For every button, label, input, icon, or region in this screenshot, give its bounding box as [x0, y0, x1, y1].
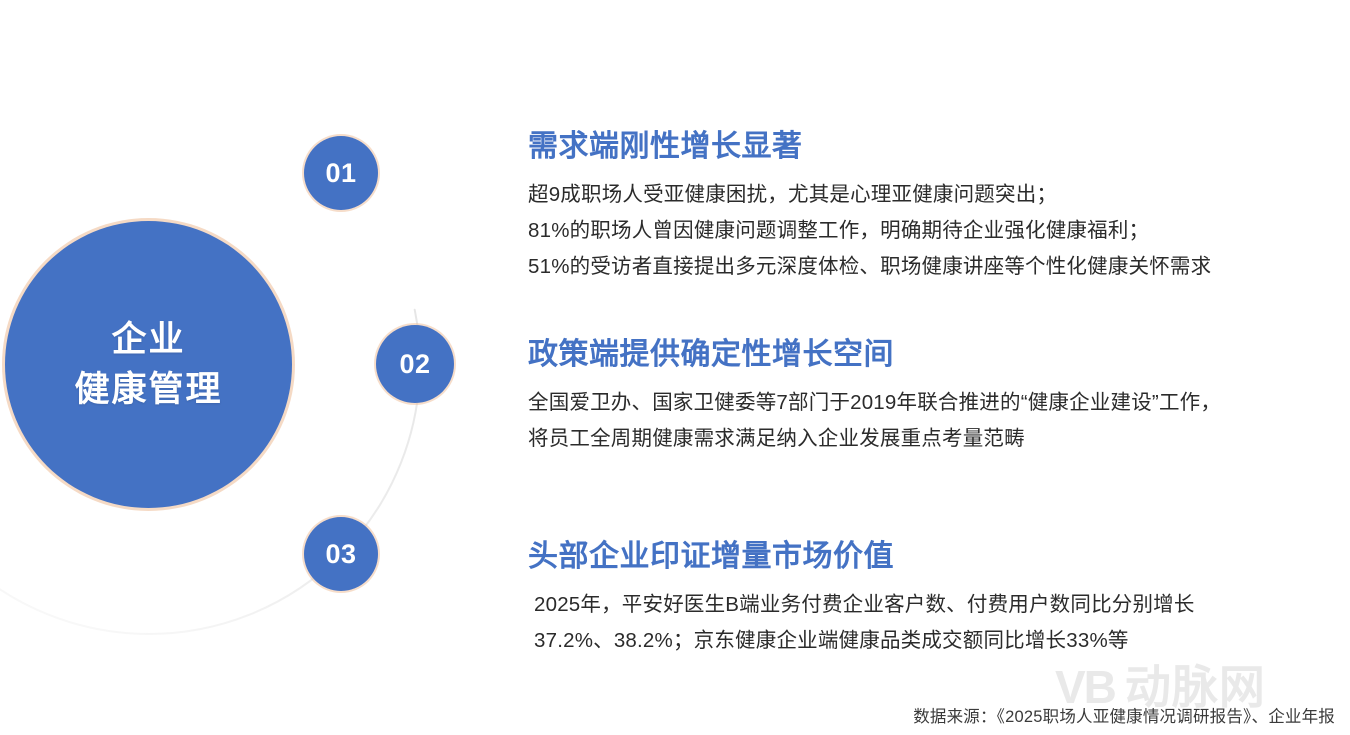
step-badge-02-label: 02: [399, 349, 430, 380]
section-03-title: 头部企业印证增量市场价值: [528, 540, 1195, 575]
step-badge-01-label: 01: [325, 158, 356, 189]
section-02-body: 全国爱卫办、国家卫健委等7部门于2019年联合推进的“健康企业建设”工作， 将员…: [528, 385, 1221, 457]
step-badge-01[interactable]: 01: [304, 136, 378, 210]
circular-diagram: 企业 健康管理 01 02 03: [0, 0, 500, 735]
step-badge-03[interactable]: 03: [304, 517, 378, 591]
section-01-title: 需求端刚性增长显著: [528, 130, 1211, 165]
section-block-02: 政策端提供确定性增长空间 全国爱卫办、国家卫健委等7部门于2019年联合推进的“…: [528, 338, 1221, 457]
center-topic-circle: 企业 健康管理: [5, 221, 292, 508]
section-01-body: 超9成职场人受亚健康困扰，尤其是心理亚健康问题突出； 81%的职场人曾因健康问题…: [528, 177, 1211, 285]
section-02-title: 政策端提供确定性增长空间: [528, 338, 1221, 373]
section-03-body: 2025年，平安好医生B端业务付费企业客户数、付费用户数同比分别增长 37.2%…: [528, 587, 1195, 659]
center-topic-label: 企业 健康管理: [74, 315, 222, 414]
section-block-01: 需求端刚性增长显著 超9成职场人受亚健康困扰，尤其是心理亚健康问题突出； 81%…: [528, 130, 1211, 285]
content-column: 需求端刚性增长显著 超9成职场人受亚健康困扰，尤其是心理亚健康问题突出； 81%…: [528, 0, 1350, 735]
section-block-03: 头部企业印证增量市场价值 2025年，平安好医生B端业务付费企业客户数、付费用户…: [528, 540, 1195, 659]
step-badge-02[interactable]: 02: [376, 325, 454, 403]
step-badge-03-label: 03: [325, 539, 356, 570]
data-source-note: 数据来源：《2025职场人亚健康情况调研报告》、企业年报: [913, 703, 1335, 727]
slide-canvas: 企业 健康管理 01 02 03 需求端刚性增长显著 超9成职场人受亚健康困扰，…: [0, 0, 1350, 735]
